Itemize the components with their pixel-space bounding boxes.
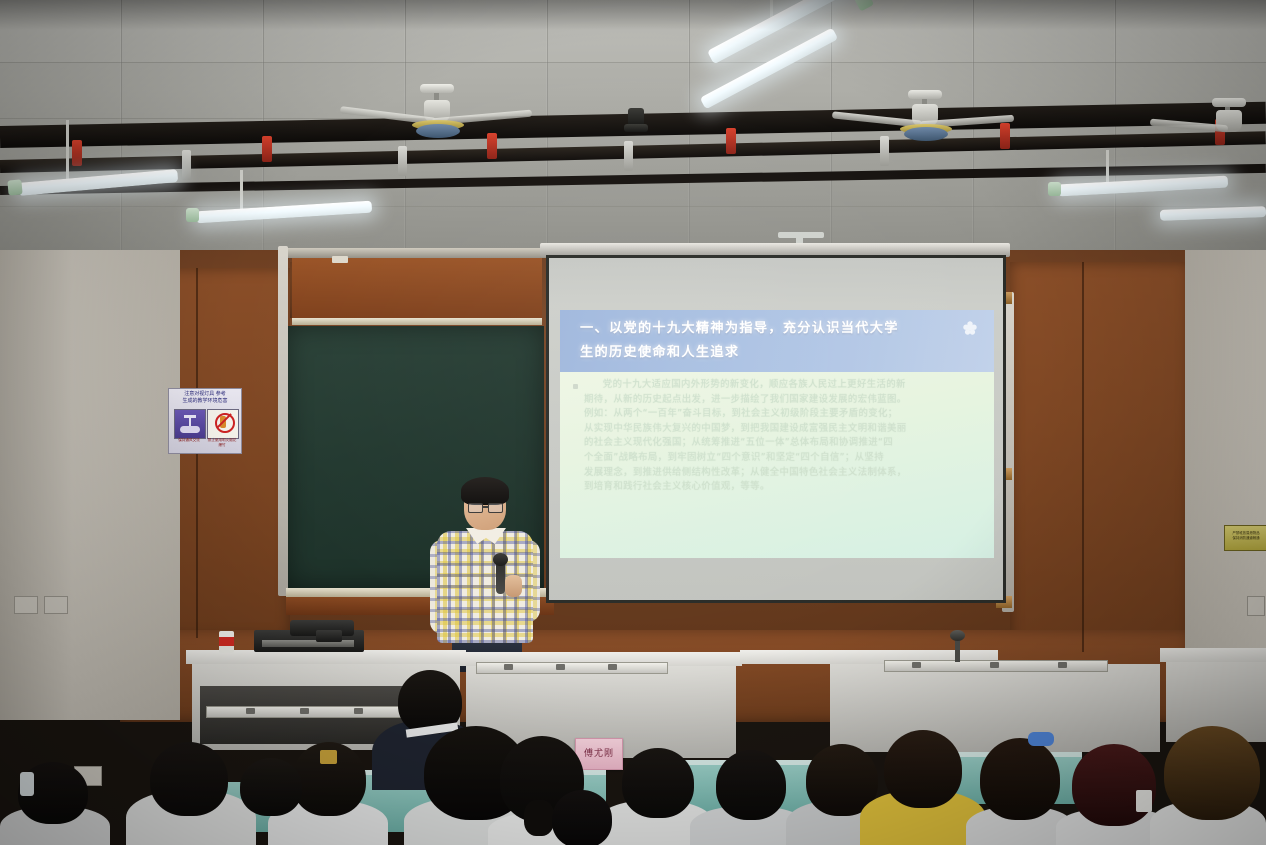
slide-title-line-2: 生的历史使命和人生追求	[580, 341, 980, 365]
left-wall	[0, 250, 180, 720]
student-head	[980, 738, 1060, 820]
fan-canopy	[1212, 98, 1246, 107]
power-socket-icon	[504, 664, 513, 670]
right-wall-notice-sign: 严禁堆放易燃物品 保持消防通道畅通	[1224, 525, 1266, 551]
slide-bullet-marker	[573, 384, 578, 389]
power-socket-icon	[1058, 662, 1067, 668]
beam-clamp	[72, 140, 82, 166]
equipment-camera	[316, 630, 342, 642]
notice-left-caption: 保持通风交流	[174, 438, 204, 443]
beam-clamp	[262, 136, 272, 162]
ceiling-sensor-base	[624, 124, 648, 132]
slide-body-text: 党的十九大适应国内外形势的新变化，顺应各族人民过上更好生活的新 期待，从新的历史…	[584, 378, 976, 495]
fan-canopy	[420, 84, 454, 93]
student-head	[884, 730, 962, 808]
desk-microphone-stand	[955, 638, 960, 662]
blackboard-ledge	[292, 318, 542, 325]
lamp-cap	[1048, 182, 1061, 196]
beam-bracket	[398, 146, 407, 176]
beam-bracket	[624, 141, 633, 171]
hair-scrunchie-icon	[1028, 732, 1054, 746]
beam-bracket	[880, 136, 889, 166]
slide-body-line-1: 党的十九大适应国内外形势的新变化，顺应各族人民过上更好生活的新	[584, 378, 976, 393]
student-head	[240, 758, 302, 816]
student-head	[1072, 744, 1156, 826]
right-notice-line-2: 保持消防通道畅通	[1227, 536, 1265, 541]
wall-outlet[interactable]	[14, 596, 38, 614]
ceiling-tile	[0, 0, 1266, 62]
wall-outlet[interactable]	[1247, 596, 1265, 616]
student-head	[552, 790, 612, 845]
name-placard-text: 傅尤刚	[576, 746, 622, 759]
lamp-cap	[7, 179, 22, 195]
lab-bench-top-far-right	[1160, 648, 1266, 662]
fan-canopy	[908, 90, 942, 99]
slide-body-line-3: 例如：从两个“一百年”奋斗目标，到社会主义初级阶段主要矛盾的变化；	[584, 407, 976, 422]
microphone-head-icon	[493, 553, 508, 566]
student-head	[150, 742, 228, 816]
student-head	[716, 750, 786, 820]
beam-clamp	[487, 133, 497, 159]
power-socket-icon	[246, 708, 255, 714]
power-socket-icon	[354, 708, 363, 714]
ventilation-pictogram-icon	[174, 409, 206, 439]
slide-body: 党的十九大适应国内外形势的新变化，顺应各族人民过上更好生活的新 期待，从新的历史…	[560, 372, 994, 558]
presentation-slide: 一、以党的十九大精神为指导，充分认识当代大学 生的历史使命和人生追求 党的十九大…	[560, 310, 994, 558]
lab-bench-body-right	[830, 664, 1160, 752]
water-bottle	[20, 772, 34, 796]
power-socket-icon	[556, 664, 565, 670]
blackboard-clip	[332, 256, 348, 263]
beam-clamp	[726, 128, 736, 154]
power-socket-icon	[608, 664, 617, 670]
student-head	[622, 748, 694, 818]
beam-clamp	[1000, 123, 1010, 149]
slide-title-text: 一、以党的十九大精神为指导，充分认识当代大学 生的历史使命和人生追求	[580, 317, 980, 365]
projector-mount-plate	[778, 232, 824, 238]
slide-body-line-7: 发展理念，到推进供给侧结构性改革；从健全中国特色社会主义法制体系，	[584, 466, 976, 481]
lamp-hanger	[66, 120, 69, 182]
slide-title-band: 一、以党的十九大精神为指导，充分认识当代大学 生的历史使命和人生追求	[560, 310, 994, 372]
presenter-hand	[505, 575, 522, 597]
slide-body-line-2: 期待，从新的历史起点出发，进一步描绘了我们国家建设发展的宏伟蓝图。	[584, 393, 976, 408]
ceiling-tile-seam	[1114, 0, 1116, 255]
blackboard-rail	[286, 248, 548, 258]
power-socket-icon	[912, 662, 921, 668]
lamp-hanger	[240, 170, 243, 210]
notice-right-caption: 禁止使用明火烟花爆竹	[207, 438, 237, 448]
lecture-hall-photo: 一、以党的十九大精神为指导，充分认识当代大学 生的历史使命和人生追求 党的十九大…	[0, 0, 1266, 845]
wall-outlet[interactable]	[44, 596, 68, 614]
blackboard-upper-wood	[292, 258, 542, 320]
student-braid	[524, 800, 554, 836]
eyeglasses-icon	[468, 503, 483, 513]
notice-heading: 注意对视灯具 参考 生成的教学环境危害	[169, 391, 241, 405]
slide-title-line-1: 一、以党的十九大精神为指导，充分认识当代大学	[580, 317, 980, 341]
hair-clip-icon	[320, 750, 337, 764]
lamp-hanger	[1106, 150, 1109, 184]
ceiling-seam	[0, 62, 1266, 63]
student-head	[1164, 726, 1260, 820]
panel-seam	[1082, 262, 1084, 652]
ceiling-seam	[0, 206, 1266, 207]
decorative-flower-icon	[962, 320, 978, 336]
slide-body-line-6: 个全面”战略布局，到牢固树立“四个意识”和坚定“四个自信”；从坚持	[584, 451, 976, 466]
fan-hub	[416, 124, 460, 138]
power-socket-icon	[300, 708, 309, 714]
fan-hub	[904, 127, 948, 141]
eyeglasses-bridge	[483, 506, 488, 508]
red-canister	[219, 631, 234, 653]
notice-heading-line-1: 注意对视灯具 参考	[169, 391, 241, 398]
desk-microphone-head-icon	[950, 630, 965, 641]
lamp-cap	[186, 208, 199, 222]
eyeglasses-icon	[488, 503, 503, 513]
slide-body-line-8: 到培育和践行社会主义核心价值观，等等。	[584, 480, 976, 495]
no-fire-pictogram-icon	[207, 409, 239, 439]
wood-wall-panel	[1010, 262, 1190, 652]
power-socket-icon	[990, 662, 999, 668]
slide-body-line-5: 的社会主义现代化强国；从统筹推进“五位一体”总体布局和协调推进“四	[584, 436, 976, 451]
slide-body-line-4: 从实现中华民族伟大复兴的中国梦，到把我国建设成富强民主文明和谐美丽	[584, 422, 976, 437]
notice-heading-line-2: 生成的教学环境危害	[169, 398, 241, 405]
left-wall-notice-sign: 注意对视灯具 参考 生成的教学环境危害 保持通风交流 禁止使用明火烟花爆竹	[168, 388, 242, 454]
blackboard-frame-left	[278, 246, 288, 596]
right-notice-text: 严禁堆放易燃物品 保持消防通道畅通	[1227, 531, 1265, 541]
beam-bracket	[182, 150, 191, 180]
name-placard: 傅尤刚	[575, 738, 623, 770]
paper-cup	[1136, 790, 1152, 812]
presenter-hair	[461, 477, 509, 505]
